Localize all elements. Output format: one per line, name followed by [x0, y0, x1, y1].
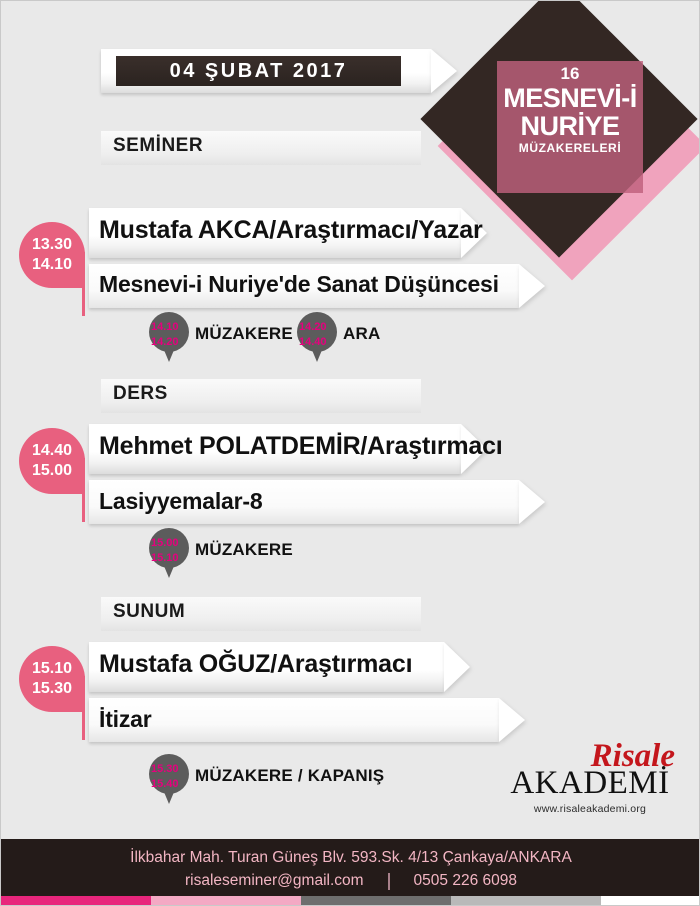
date-plate: 04 ŞUBAT 2017	[116, 56, 401, 86]
speaker-name-3: Mustafa OĞUZ/Araştırmacı	[99, 650, 412, 679]
pin-times-3a: 15.30 15.40	[151, 762, 199, 792]
strip-segment-0	[1, 896, 151, 905]
footer-email[interactable]: risaleseminer@gmail.com	[185, 872, 364, 890]
pin-end: 15.40	[151, 778, 179, 790]
topic-text-3: İtizar	[99, 706, 151, 733]
pin-start: 15.00	[151, 537, 179, 549]
strip-segment-2	[301, 896, 451, 905]
footer-color-strip	[1, 896, 700, 905]
speaker-name-2: Mehmet POLATDEMİR/Araştırmacı	[99, 432, 503, 461]
footer-phone: 0505 226 6098	[414, 872, 517, 890]
time-end-2: 15.00	[32, 461, 72, 481]
pin-times-2a: 15.00 15.10	[151, 536, 199, 566]
pin-end: 14.40	[299, 336, 327, 348]
logo-url: www.risaleakademi.org	[499, 803, 681, 815]
break-pin-2a: 15.00 15.10	[149, 528, 189, 580]
logo-word-akademi: AKADEMİ	[499, 768, 681, 799]
badge-subtitle: MÜZAKERELERİ	[479, 141, 661, 155]
risale-akademi-logo: Risale AKADEMİ www.risaleakademi.org	[499, 741, 681, 815]
session-kicker-2: DERS	[113, 383, 168, 405]
poster-root: 04 ŞUBAT 2017 SEMİNER 13.30 14.10 Mustaf…	[0, 0, 700, 906]
break-pin-3a: 15.30 15.40	[149, 754, 189, 806]
badge-line2: NURİYE	[479, 112, 661, 140]
break-label-1a: MÜZAKERE	[195, 324, 293, 344]
session-kicker-1: SEMİNER	[113, 135, 203, 157]
pin-times-1a: 14.10 14.20	[151, 320, 199, 350]
strip-segment-4	[601, 896, 700, 905]
break-label-2a: MÜZAKERE	[195, 540, 293, 560]
mesnevi-nuriye-badge: 16 MESNEVİ-İ NURİYE MÜZAKERELERİ	[439, 3, 697, 283]
time-start-3: 15.10	[32, 659, 72, 679]
break-label-1b: ARA	[343, 324, 380, 344]
session-kicker-3: SUNUM	[113, 601, 185, 623]
badge-text-block: 16 MESNEVİ-İ NURİYE MÜZAKERELERİ	[479, 65, 661, 155]
footer-contact-row: risaleseminer@gmail.com 0505 226 6098	[1, 872, 700, 890]
badge-number: 16	[479, 65, 661, 84]
footer-bar: İlkbahar Mah. Turan Güneş Blv. 593.Sk. 4…	[1, 839, 700, 905]
date-label: 04 ŞUBAT 2017	[170, 60, 348, 83]
strip-segment-1	[151, 896, 301, 905]
footer-divider	[388, 873, 390, 890]
time-end-1: 14.10	[32, 255, 72, 275]
time-pin-1: 13.30 14.10	[19, 222, 85, 288]
speaker-name-1: Mustafa AKCA/Araştırmacı/Yazar	[99, 216, 483, 245]
time-pin-2: 14.40 15.00	[19, 428, 85, 494]
pin-start: 15.30	[151, 763, 179, 775]
break-pin-1a: 14.10 14.20	[149, 312, 189, 364]
time-end-3: 15.30	[32, 679, 72, 699]
pin-end: 15.10	[151, 552, 179, 564]
time-pin-tail-1	[82, 252, 85, 316]
break-pin-1b: 14.20 14.40	[297, 312, 337, 364]
time-start-1: 13.30	[32, 235, 72, 255]
break-label-3a: MÜZAKERE / KAPANIŞ	[195, 766, 384, 786]
topic-text-2: Lasiyyemalar-8	[99, 488, 262, 515]
footer-address: İlkbahar Mah. Turan Güneş Blv. 593.Sk. 4…	[1, 849, 700, 867]
pin-start: 14.20	[299, 321, 327, 333]
strip-segment-3	[451, 896, 601, 905]
pin-end: 14.20	[151, 336, 179, 348]
time-start-2: 14.40	[32, 441, 72, 461]
badge-line1: MESNEVİ-İ	[479, 84, 661, 112]
pin-times-1b: 14.20 14.40	[299, 320, 347, 350]
time-pin-tail-3	[82, 676, 85, 740]
time-pin-3: 15.10 15.30	[19, 646, 85, 712]
time-pin-tail-2	[82, 458, 85, 522]
pin-start: 14.10	[151, 321, 179, 333]
